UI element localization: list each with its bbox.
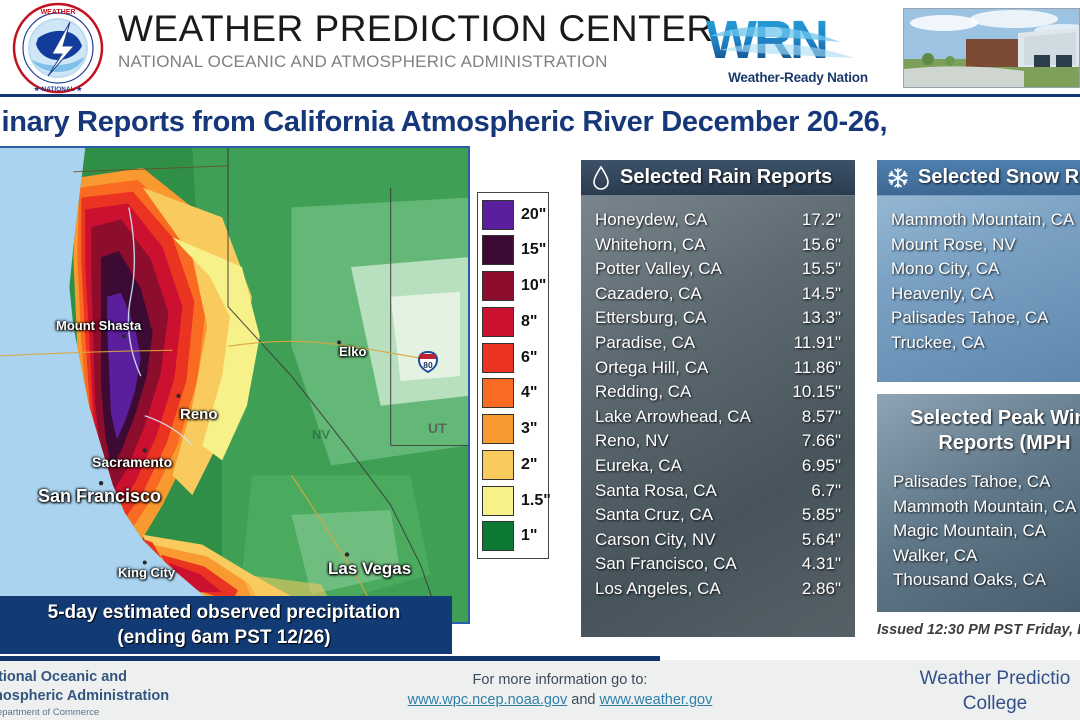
footer-right-block: Weather Predictio College <box>880 666 1080 716</box>
page-title: minary Reports from California Atmospher… <box>0 106 887 139</box>
precipitation-map[interactable]: Mount Shasta Elko Reno Sacramento San Fr… <box>0 146 470 624</box>
report-place: Ortega Hill, CA <box>595 356 708 381</box>
wind-report-list: Palisades Tahoe, CA Mammoth Mountain, CA… <box>877 456 1080 593</box>
report-value: 14.5" <box>802 282 841 307</box>
legend-label: 20" <box>521 206 546 224</box>
wind-report-row: Walker, CA <box>893 544 1080 569</box>
precipitation-legend: 20" 15" 10" 8" 6" 4" 3" 2" <box>477 192 549 559</box>
report-place: Magic Mountain, CA <box>893 519 1046 544</box>
footer-info-block: For more information go to: www.wpc.ncep… <box>380 672 740 708</box>
legend-item: 2" <box>482 448 544 481</box>
report-value: 5.64" <box>802 528 841 553</box>
report-place: Honeydew, CA <box>595 208 707 233</box>
weather-prediction-center-graphic: WEATHER ★ NATIONAL ★ WEATHER PREDICTION … <box>0 0 1080 720</box>
legend-label: 1.5" <box>521 492 551 510</box>
footer-links: www.wpc.ncep.noaa.gov and www.weather.go… <box>380 692 740 708</box>
precipitation-map-canvas <box>0 148 468 622</box>
report-place: Mammoth Mountain, CA <box>891 208 1074 233</box>
report-value: 7.66" <box>802 429 841 454</box>
highway-shield-80-icon: 80 <box>418 351 438 378</box>
agency-title: WEATHER PREDICTION CENTER <box>118 8 698 50</box>
report-value: 6.7" <box>811 479 841 504</box>
snow-report-row: Truckee, CA <box>891 331 1080 356</box>
report-value: 8.57" <box>802 405 841 430</box>
report-place: Palisades Tahoe, CA <box>893 470 1051 495</box>
rain-report-row: Potter Valley, CA15.5" <box>595 257 841 282</box>
legend-swatch <box>482 450 514 480</box>
rain-report-row: Santa Rosa, CA6.7" <box>595 479 841 504</box>
wind-panel-title-line-1: Selected Peak Wind <box>883 406 1080 431</box>
header-bar: WEATHER ★ NATIONAL ★ WEATHER PREDICTION … <box>0 0 1080 96</box>
rain-report-row: Cazadero, CA14.5" <box>595 282 841 307</box>
weather-gov-link[interactable]: www.weather.gov <box>600 692 713 708</box>
wind-panel-title: Selected Peak Wind Reports (MPH <box>877 394 1080 456</box>
rain-report-row: Santa Cruz, CA5.85" <box>595 503 841 528</box>
rain-report-list: Honeydew, CA17.2" Whitehorn, CA15.6" Pot… <box>581 196 855 612</box>
legend-swatch <box>482 414 514 444</box>
report-place: Ettersburg, CA <box>595 306 707 331</box>
legend-label: 2" <box>521 456 537 474</box>
report-place: Eureka, CA <box>595 454 682 479</box>
rain-report-row: San Francisco, CA4.31" <box>595 552 841 577</box>
snow-panel-title: Selected Snow R <box>918 166 1079 189</box>
rain-report-row: Paradise, CA11.91" <box>595 331 841 356</box>
wind-report-row: Mammoth Mountain, CA <box>893 495 1080 520</box>
rain-report-row: Whitehorn, CA15.6" <box>595 233 841 258</box>
report-place: Potter Valley, CA <box>595 257 722 282</box>
snow-report-row: Mount Rose, NV <box>891 233 1080 258</box>
noaa-footer-block: ational Oceanic and mospheric Administra… <box>0 668 169 718</box>
header-divider <box>0 94 1080 97</box>
report-value: 10.15" <box>792 380 841 405</box>
selected-snow-reports-panel: Selected Snow R Mammoth Mountain, CA Mou… <box>877 160 1080 382</box>
snow-panel-header: Selected Snow R <box>877 160 1080 196</box>
legend-label: 1" <box>521 527 537 545</box>
report-place: Santa Cruz, CA <box>595 503 713 528</box>
report-value: 4.31" <box>802 552 841 577</box>
report-value: 6.95" <box>802 454 841 479</box>
report-place: Los Angeles, CA <box>595 577 721 602</box>
legend-label: 15" <box>521 241 546 259</box>
legend-swatch <box>482 521 514 551</box>
banner: minary Reports from California Atmospher… <box>0 100 1080 144</box>
report-value: 11.86" <box>794 356 841 381</box>
footer-divider <box>0 656 660 661</box>
legend-item: 10" <box>482 270 544 303</box>
rain-panel-header: Selected Rain Reports <box>581 160 855 196</box>
legend-item: 15" <box>482 234 544 267</box>
national-weather-service-seal-icon: WEATHER ★ NATIONAL ★ <box>8 2 108 94</box>
svg-text:★ NATIONAL ★: ★ NATIONAL ★ <box>34 85 83 93</box>
snow-report-row: Mammoth Mountain, CA <box>891 208 1080 233</box>
report-value: 13.3" <box>802 306 841 331</box>
svg-text:80: 80 <box>423 360 433 370</box>
rain-report-row: Los Angeles, CA2.86" <box>595 577 841 602</box>
legend-swatch <box>482 307 514 337</box>
report-value: 11.91" <box>794 331 841 356</box>
legend-item: 1.5" <box>482 484 544 517</box>
report-place: San Francisco, CA <box>595 552 737 577</box>
noaa-footer-line-2: mospheric Administration <box>0 687 169 706</box>
agency-subtitle: NATIONAL OCEANIC AND ATMOSPHERIC ADMINIS… <box>118 52 698 72</box>
rain-panel-title: Selected Rain Reports <box>620 166 832 189</box>
issued-timestamp: Issued 12:30 PM PST Friday, D <box>877 622 1080 638</box>
map-caption: 5-day estimated observed precipitation (… <box>0 596 452 654</box>
legend-label: 3" <box>521 420 537 438</box>
report-place: Thousand Oaks, CA <box>893 568 1046 593</box>
report-place: Palisades Tahoe, CA <box>891 306 1049 331</box>
legend-item: 6" <box>482 341 544 374</box>
footer-right-line-1: Weather Predictio <box>880 666 1080 691</box>
rain-report-row: Eureka, CA6.95" <box>595 454 841 479</box>
raindrop-icon <box>591 165 611 191</box>
legend-label: 4" <box>521 384 537 402</box>
report-place: Heavenly, CA <box>891 282 994 307</box>
wind-panel-title-line-2: Reports (MPH <box>883 431 1080 456</box>
report-value: 17.2" <box>802 208 841 233</box>
report-place: Mammoth Mountain, CA <box>893 495 1076 520</box>
legend-item: 3" <box>482 413 544 446</box>
report-place: Walker, CA <box>893 544 977 569</box>
legend-swatch <box>482 486 514 516</box>
legend-swatch <box>482 235 514 265</box>
legend-swatch <box>482 378 514 408</box>
wind-report-row: Magic Mountain, CA <box>893 519 1080 544</box>
legend-item: 1" <box>482 520 544 553</box>
wrn-caption: Weather-Ready Nation <box>700 70 896 85</box>
report-place: Mono City, CA <box>891 257 999 282</box>
report-place: Truckee, CA <box>891 331 985 356</box>
report-place: Lake Arrowhead, CA <box>595 405 751 430</box>
rain-report-row: Ortega Hill, CA11.86" <box>595 356 841 381</box>
rain-report-row: Reno, NV7.66" <box>595 429 841 454</box>
agency-titles: WEATHER PREDICTION CENTER NATIONAL OCEAN… <box>118 8 698 72</box>
legend-swatch <box>482 271 514 301</box>
rain-report-row: Ettersburg, CA13.3" <box>595 306 841 331</box>
report-value: 2.86" <box>802 577 841 602</box>
svg-text:WRN: WRN <box>706 10 826 70</box>
report-place: Mount Rose, NV <box>891 233 1016 258</box>
legend-label: 8" <box>521 313 537 331</box>
svg-text:WEATHER: WEATHER <box>41 9 76 16</box>
legend-item: 20" <box>482 198 544 231</box>
map-caption-line-2: (ending 6am PST 12/26) <box>117 625 330 650</box>
legend-label: 6" <box>521 349 537 367</box>
snowflake-icon <box>887 167 909 189</box>
report-place: Redding, CA <box>595 380 691 405</box>
wpc-link[interactable]: www.wpc.ncep.noaa.gov <box>408 692 568 708</box>
legend-item: 4" <box>482 377 544 410</box>
legend-swatch <box>482 343 514 373</box>
map-caption-line-1: 5-day estimated observed precipitation <box>48 600 401 625</box>
footer-right-line-2: College <box>880 691 1080 716</box>
report-place: Santa Rosa, CA <box>595 479 717 504</box>
selected-peak-wind-reports-panel: Selected Peak Wind Reports (MPH Palisade… <box>877 394 1080 612</box>
report-place: Paradise, CA <box>595 331 695 356</box>
wind-report-row: Thousand Oaks, CA <box>893 568 1080 593</box>
legend-swatch <box>482 200 514 230</box>
rain-report-row: Lake Arrowhead, CA8.57" <box>595 405 841 430</box>
snow-report-row: Mono City, CA <box>891 257 1080 282</box>
snow-report-row: Heavenly, CA <box>891 282 1080 307</box>
noaa-footer-line-1: ational Oceanic and <box>0 668 169 687</box>
selected-rain-reports-panel: Selected Rain Reports Honeydew, CA17.2" … <box>581 160 855 637</box>
noaa-footer-line-3: Department of Commerce <box>0 707 169 718</box>
wind-report-row: Palisades Tahoe, CA <box>893 470 1080 495</box>
report-place: Whitehorn, CA <box>595 233 706 258</box>
noaa-building-photo <box>903 8 1080 88</box>
footer-info-text: For more information go to: <box>380 672 740 688</box>
report-value: 5.85" <box>802 503 841 528</box>
legend-label: 10" <box>521 277 546 295</box>
report-place: Reno, NV <box>595 429 669 454</box>
report-value: 15.6" <box>802 233 841 258</box>
snow-report-list: Mammoth Mountain, CA Mount Rose, NV Mono… <box>877 196 1080 366</box>
report-place: Carson City, NV <box>595 528 716 553</box>
rain-report-row: Carson City, NV5.64" <box>595 528 841 553</box>
rain-report-row: Honeydew, CA17.2" <box>595 208 841 233</box>
report-value: 15.5" <box>802 257 841 282</box>
snow-report-row: Palisades Tahoe, CA <box>891 306 1080 331</box>
rain-report-row: Redding, CA10.15" <box>595 380 841 405</box>
report-place: Cazadero, CA <box>595 282 702 307</box>
link-conjunction: and <box>567 692 599 708</box>
legend-item: 8" <box>482 305 544 338</box>
